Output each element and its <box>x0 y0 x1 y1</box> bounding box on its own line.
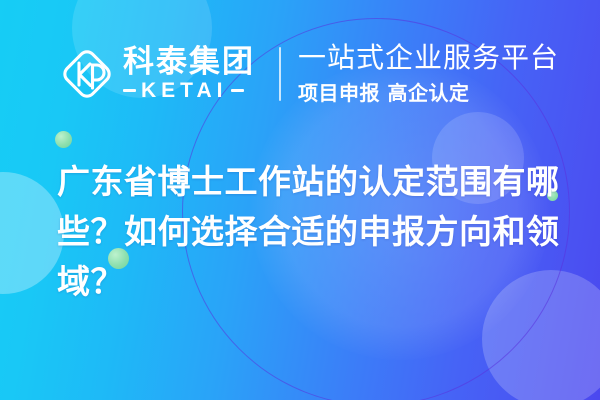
page-title: 广东省博士工作站的认定范围有哪 些？如何选择合适的申报方向和领 域？ <box>57 157 562 307</box>
tagline-main: 一站式企业服务平台 <box>298 42 559 73</box>
headline-line: 些？如何选择合适的申报方向和领 <box>57 207 562 257</box>
brand-wordmark: 科泰集团 KETAI <box>123 47 255 102</box>
ketai-diamond-kp-mark-icon <box>57 44 117 104</box>
dash-left-icon <box>123 89 136 92</box>
brand-name-en: KETAI <box>141 80 227 101</box>
headline-line: 域？ <box>57 257 562 307</box>
dash-right-icon <box>231 89 244 92</box>
left-edge-circle-decoration <box>0 172 64 294</box>
brand-logo[interactable]: 科泰集团 KETAI <box>57 41 255 107</box>
banner-header: 科泰集团 KETAI 一站式企业服务平台 项目申报 高企认定 <box>0 38 600 110</box>
brand-name-en-row: KETAI <box>123 80 255 101</box>
green-dot-decoration <box>55 131 72 148</box>
brand-name-cn: 科泰集团 <box>123 47 255 79</box>
tagline-sub: 项目申报 高企认定 <box>298 77 559 106</box>
headline-line: 广东省博士工作站的认定范围有哪 <box>57 157 562 207</box>
tagline-block: 一站式企业服务平台 项目申报 高企认定 <box>298 42 559 106</box>
header-divider <box>279 47 281 101</box>
promo-banner: 科泰集团 KETAI 一站式企业服务平台 项目申报 高企认定 广东省博士工作站的… <box>0 0 600 400</box>
